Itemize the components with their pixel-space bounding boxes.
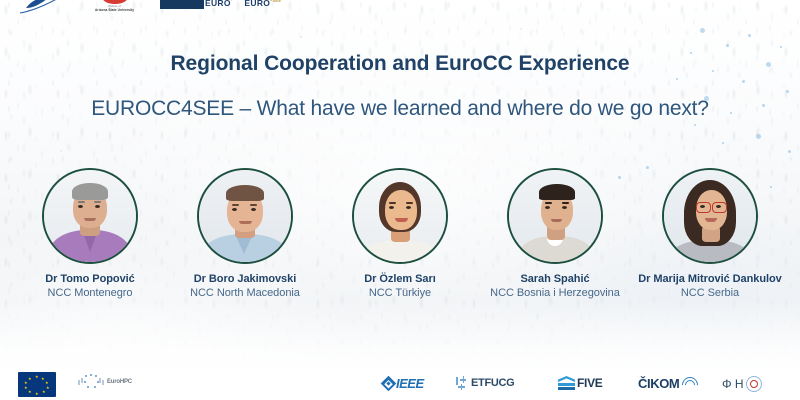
ieee-label: IEEE — [396, 376, 424, 391]
speaker-name: Dr Marija Mitrović Dankulov — [633, 273, 788, 285]
navy-box-logo: UCG — [160, 0, 204, 9]
speaker-portrait — [509, 170, 601, 262]
eu-flag-logo: ★ ★ ★ ★ ★ ★ ★ ★ ★ ★ — [18, 372, 56, 397]
asu-logo: Partner of Arizona State University — [95, 0, 134, 12]
etf-mark-icon — [455, 376, 469, 390]
euro-label-1: EURO — [205, 0, 231, 8]
speaker-card: Dr Özlem Sarı NCC Türkiye — [323, 168, 478, 299]
speaker-org: NCC Serbia — [633, 287, 788, 299]
slide-subtitle: EUROCC4SEE – What have we learned and wh… — [0, 97, 800, 121]
euro-logos: EURO² EURO⁴SEE — [205, 0, 281, 8]
euro-trophy-logo-1: EURO² — [205, 0, 232, 8]
speaker-name: Dr Tomo Popović — [13, 273, 168, 285]
eu-stars: ★ ★ ★ ★ ★ ★ ★ ★ ★ ★ — [18, 372, 56, 397]
asu-mark — [102, 0, 128, 4]
cikom-arc-icon — [682, 377, 697, 391]
avatar — [42, 168, 138, 264]
five-label: FIVE — [577, 376, 602, 390]
ieee-diamond-icon — [381, 376, 397, 392]
ieee-logo: IEEE — [383, 376, 424, 391]
speakers-row: Dr Tomo Popović NCC Montenegro — [0, 168, 800, 299]
etf-ucg-label: ETFUCG — [471, 377, 514, 389]
avatar — [352, 168, 448, 264]
speaker-card: Dr Tomo Popović NCC Montenegro — [13, 168, 168, 299]
slide-title: Regional Cooperation and EuroCC Experien… — [0, 52, 800, 76]
eurohpc-logo: EuroHPC — [78, 373, 132, 391]
speaker-name: Sarah Spahić — [478, 273, 633, 285]
foh-label: Φ Η — [722, 377, 744, 391]
avatar — [507, 168, 603, 264]
speaker-name: Dr Özlem Sarı — [323, 273, 478, 285]
speaker-name: Dr Boro Jakimovski — [168, 273, 323, 285]
footer-logo-bar: ★ ★ ★ ★ ★ ★ ★ ★ ★ ★ — [0, 368, 800, 400]
cikom-logo: ČIKOM — [638, 376, 697, 391]
euro-label-2: EURO — [244, 0, 270, 8]
speaker-card: Dr Marija Mitrović Dankulov NCC Serbia — [633, 168, 788, 299]
asu-label: Arizona State University — [95, 8, 134, 12]
speaker-card: Sarah Spahić NCC Bosnia i Herzegovina — [478, 168, 633, 299]
five-mark-icon — [558, 376, 575, 390]
euro-trophy-logo-2: EURO⁴SEE — [244, 0, 281, 8]
euro-sup-1: ² — [231, 0, 233, 3]
foh-ring-icon — [746, 376, 762, 392]
swoosh-logo — [18, 0, 66, 16]
presentation-slide: Partner of Arizona State University UCG … — [0, 0, 800, 400]
eurohpc-mark — [78, 373, 104, 391]
speaker-portrait — [44, 170, 136, 262]
etf-ucg-logo: ETFUCG — [455, 376, 514, 390]
avatar — [662, 168, 758, 264]
speaker-portrait — [354, 170, 446, 262]
top-logo-strip: Partner of Arizona State University UCG … — [0, 0, 800, 22]
speaker-org: NCC Bosnia i Herzegovina — [478, 287, 633, 299]
five-logo: FIVE — [558, 376, 602, 390]
speaker-card: Dr Boro Jakimovski NCC North Macedonia — [168, 168, 323, 299]
speaker-org: NCC Montenegro — [13, 287, 168, 299]
speaker-org: NCC North Macedonia — [168, 287, 323, 299]
speaker-org: NCC Türkiye — [323, 287, 478, 299]
cikom-label: ČIKOM — [638, 376, 679, 391]
avatar — [197, 168, 293, 264]
foh-logo: Φ Η — [722, 376, 762, 392]
eurohpc-label: EuroHPC — [107, 379, 132, 385]
speaker-portrait — [664, 170, 756, 262]
euro-sup-2: ⁴SEE — [270, 0, 281, 3]
speaker-portrait — [199, 170, 291, 262]
